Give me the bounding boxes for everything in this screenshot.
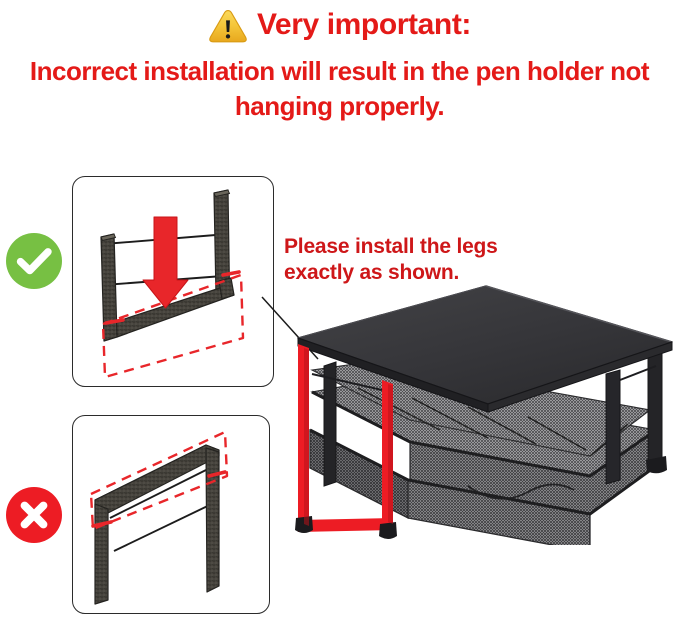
check-circle-icon: [6, 233, 62, 289]
header: Very important: Incorrect installation w…: [0, 0, 679, 140]
desk-organizer-product-image: [290, 270, 679, 545]
warning-triangle-icon: [208, 8, 248, 44]
incorrect-installation-diagram: [72, 415, 270, 614]
correct-installation-diagram: [72, 176, 274, 387]
header-title-row: Very important:: [0, 6, 679, 44]
x-circle-icon: [6, 487, 62, 543]
page-title: Very important:: [257, 6, 471, 44]
header-subtitle: Incorrect installation will result in th…: [6, 54, 673, 124]
